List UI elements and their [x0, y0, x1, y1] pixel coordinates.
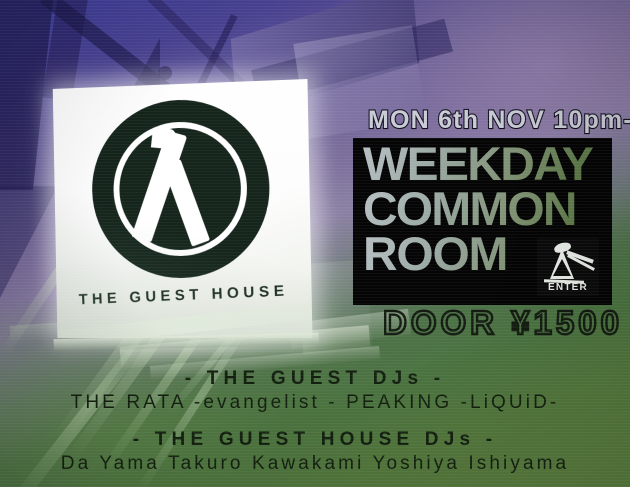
enter-projector-icon	[540, 243, 596, 283]
lightbox-face: THE GUEST HOUSE	[53, 79, 313, 338]
enter-badge-label: ENTER	[548, 283, 588, 293]
circle-person-kanji-icon	[91, 97, 272, 279]
guest-djs-names: THE RATA -evangelist - PEAKING -LiQUiD-	[0, 392, 630, 414]
event-dateline: MON 6th NOV 10pm-	[368, 106, 630, 135]
door-price: DOOR ¥1500	[383, 304, 623, 342]
enter-badge: ENTER	[537, 238, 599, 296]
house-djs-heading: - THE GUEST HOUSE DJs -	[0, 429, 630, 451]
title-line-2: COMMON	[363, 186, 617, 231]
venue-lightbox-sign: THE GUEST HOUSE	[53, 79, 313, 338]
house-djs-names: Da Yama Takuro Kawakami Yoshiya Ishiyama	[0, 453, 630, 475]
title-block: WEEKDAY COMMON ROOM ENTER	[353, 138, 612, 305]
guest-djs-heading: - THE GUEST DJs -	[0, 368, 630, 390]
venue-name-caption: THE GUEST HOUSE	[78, 282, 288, 308]
title-line-1: WEEKDAY	[363, 141, 617, 186]
flyer-poster: THE GUEST HOUSE MON 6th NOV 10pm- WEEKDA…	[0, 0, 630, 487]
